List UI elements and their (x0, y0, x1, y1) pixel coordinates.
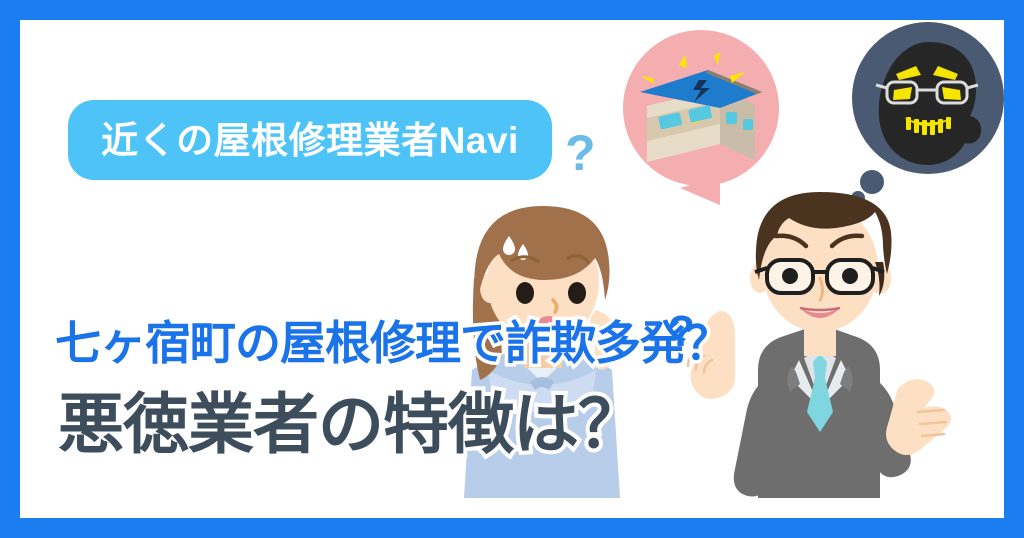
open-palm-hand (886, 379, 951, 455)
banner-frame: 近くの屋根修理業者Navi ? ? 七ヶ宿町の屋根修理で詐欺多発？ 悪徳業者の特… (0, 0, 1024, 538)
question-mark-blue-icon: ? (668, 310, 695, 354)
headline-secondary: 悪徳業者の特徴は？ (58, 388, 643, 462)
banner-canvas: 近くの屋根修理業者Navi ? ? 七ヶ宿町の屋根修理で詐欺多発？ 悪徳業者の特… (20, 20, 1004, 518)
headline-primary: 七ヶ宿町の屋根修理で詐欺多発？ (55, 318, 730, 370)
